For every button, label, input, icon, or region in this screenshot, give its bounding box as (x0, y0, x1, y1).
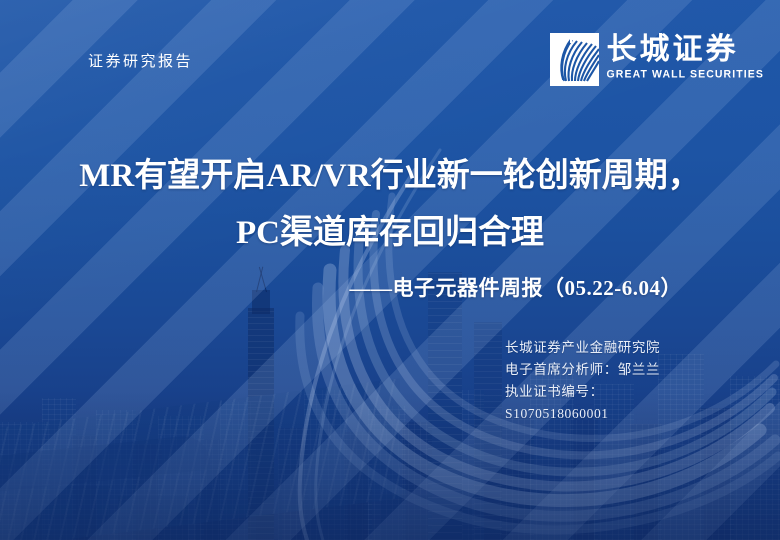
author-institute: 长城证券产业金融研究院 (505, 337, 660, 359)
author-block: 长城证券产业金融研究院 电子首席分析师：邹兰兰 执业证书编号： S1070518… (505, 337, 660, 424)
page-subtitle: ——电子元器件周报（05.22-6.04） (0, 272, 682, 302)
author-license-number: S1070518060001 (505, 403, 660, 425)
glass-tower (428, 272, 462, 540)
brand-logo: 长城证券 GREAT WALL SECURITIES (550, 33, 764, 86)
great-wall-fan-logo-icon (550, 33, 599, 86)
author-license-label: 执业证书编号： (505, 381, 660, 403)
logo-english-name: GREAT WALL SECURITIES (607, 68, 764, 81)
page-title: MR有望开启AR/VR行业新一轮创新周期， PC渠道库存回归合理 (0, 148, 780, 262)
title-line-1: MR有望开启AR/VR行业新一轮创新周期， (0, 148, 780, 205)
cover-page: 证券研究报告 (0, 0, 780, 540)
title-line-2: PC渠道库存回归合理 (0, 205, 780, 262)
report-kicker: 证券研究报告 (88, 50, 193, 71)
secondary-tower (474, 322, 502, 540)
logo-chinese-name: 长城证券 (607, 34, 764, 66)
author-analyst: 电子首席分析师：邹兰兰 (505, 359, 660, 381)
